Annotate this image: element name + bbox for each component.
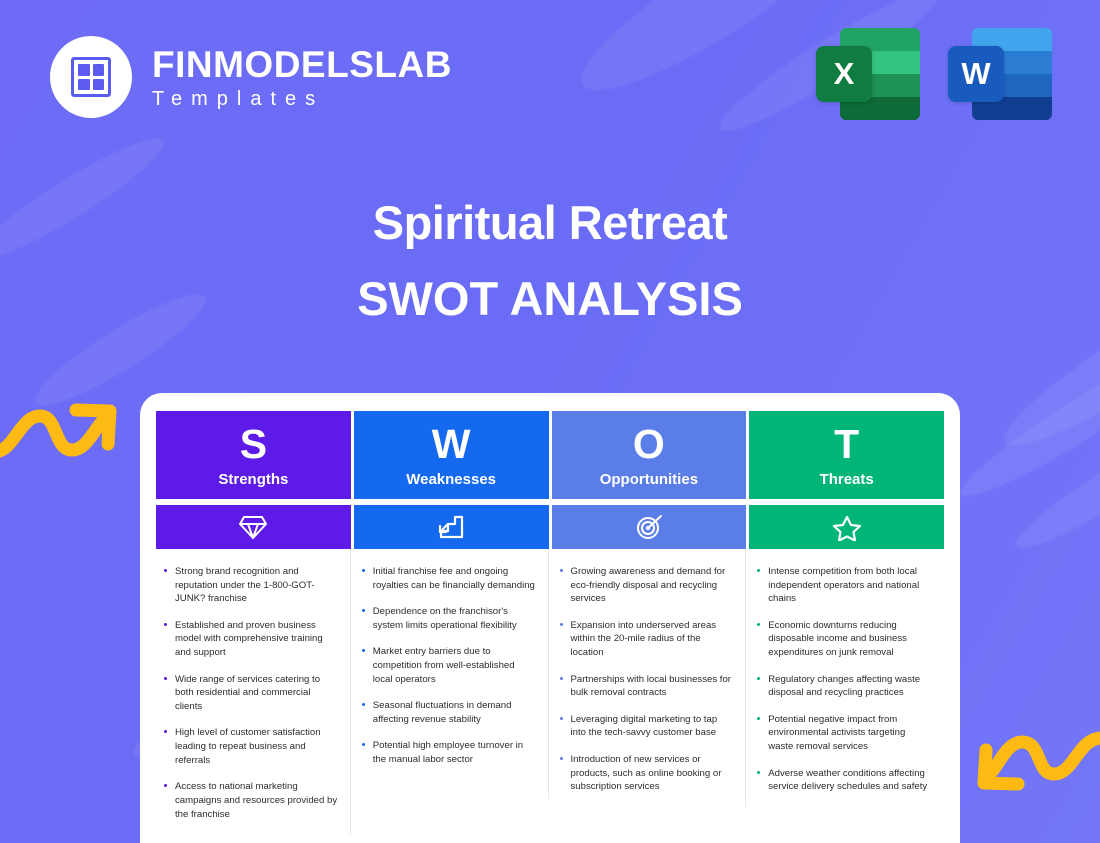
list-item: Seasonal fluctuations in demand affectin… bbox=[360, 699, 536, 726]
bullet-list: Initial franchise fee and ongoing royalt… bbox=[360, 565, 536, 767]
list-item: Growing awareness and demand for eco-fri… bbox=[558, 565, 734, 606]
column-letter: W bbox=[432, 424, 471, 465]
list-item: Introduction of new services or products… bbox=[558, 753, 734, 794]
column-body-strengths: Strong brand recognition and reputation … bbox=[156, 549, 351, 834]
list-item: High level of customer satisfaction lead… bbox=[162, 726, 338, 767]
list-item: Established and proven business model wi… bbox=[162, 619, 338, 660]
word-icon: W bbox=[948, 28, 1052, 120]
column-header-opportunities: O Opportunities bbox=[552, 411, 747, 499]
list-item: Strong brand recognition and reputation … bbox=[162, 565, 338, 606]
column-name: Strengths bbox=[218, 472, 288, 487]
diamond-icon bbox=[156, 505, 351, 549]
brand-logo: FINMODELSLAB Templates bbox=[50, 36, 452, 118]
descending-stairs-icon bbox=[354, 505, 549, 549]
column-letter: O bbox=[633, 424, 665, 465]
list-item: Intense competition from both local inde… bbox=[755, 565, 932, 606]
brand-text: FINMODELSLAB Templates bbox=[152, 46, 452, 109]
title-line-2: SWOT ANALYSIS bbox=[0, 272, 1100, 326]
column-letter: T bbox=[834, 424, 859, 465]
logo-circle bbox=[50, 36, 132, 118]
bullet-list: Strong brand recognition and reputation … bbox=[162, 565, 338, 821]
list-item: Potential high employee turnover in the … bbox=[360, 739, 536, 766]
column-body-opportunities: Growing awareness and demand for eco-fri… bbox=[552, 549, 747, 807]
column-header-strengths: S Strengths bbox=[156, 411, 351, 499]
swot-column-strengths: S Strengths Strong brand recognition and… bbox=[156, 411, 351, 834]
star-icon bbox=[749, 505, 944, 549]
list-item: Economic downturns reducing disposable i… bbox=[755, 619, 932, 660]
list-item: Potential negative impact from environme… bbox=[755, 713, 932, 754]
squiggly-arrow-up-right-icon bbox=[0, 398, 122, 473]
swot-column-threats: T Threats Intense competition from both … bbox=[749, 411, 944, 834]
page-title: Spiritual Retreat SWOT ANALYSIS bbox=[0, 196, 1100, 326]
list-item: Wide range of services catering to both … bbox=[162, 673, 338, 714]
column-letter: S bbox=[240, 424, 267, 465]
excel-tile-letter: X bbox=[816, 46, 872, 102]
title-line-1: Spiritual Retreat bbox=[0, 196, 1100, 250]
column-name: Weaknesses bbox=[406, 472, 496, 487]
squiggly-arrow-down-left-icon bbox=[966, 730, 1100, 807]
swot-column-opportunities: O Opportunities Growing awareness and de… bbox=[552, 411, 747, 834]
swot-column-weaknesses: W Weaknesses Initial franchise fee and o… bbox=[354, 411, 549, 834]
list-item: Expansion into underserved areas within … bbox=[558, 619, 734, 660]
list-item: Leveraging digital marketing to tap into… bbox=[558, 713, 734, 740]
list-item: Access to national marketing campaigns a… bbox=[162, 780, 338, 821]
list-item: Initial franchise fee and ongoing royalt… bbox=[360, 565, 536, 592]
column-body-threats: Intense competition from both local inde… bbox=[749, 549, 944, 807]
brand-name: FINMODELSLAB bbox=[152, 46, 452, 83]
target-icon bbox=[552, 505, 747, 549]
column-header-threats: T Threats bbox=[749, 411, 944, 499]
swot-table: S Strengths Strong brand recognition and… bbox=[156, 411, 944, 834]
swot-card: S Strengths Strong brand recognition and… bbox=[140, 393, 960, 843]
grid-icon bbox=[71, 57, 111, 97]
bullet-list: Intense competition from both local inde… bbox=[755, 565, 932, 794]
column-name: Threats bbox=[820, 472, 874, 487]
column-body-weaknesses: Initial franchise fee and ongoing royalt… bbox=[354, 549, 549, 799]
bullet-list: Growing awareness and demand for eco-fri… bbox=[558, 565, 734, 794]
list-item: Dependence on the franchisor's system li… bbox=[360, 605, 536, 632]
format-icons: X W bbox=[816, 28, 1052, 120]
column-header-weaknesses: W Weaknesses bbox=[354, 411, 549, 499]
list-item: Adverse weather conditions affecting ser… bbox=[755, 767, 932, 794]
excel-icon: X bbox=[816, 28, 920, 120]
list-item: Regulatory changes affecting waste dispo… bbox=[755, 673, 932, 700]
list-item: Market entry barriers due to competition… bbox=[360, 645, 536, 686]
column-name: Opportunities bbox=[600, 472, 698, 487]
list-item: Partnerships with local businesses for b… bbox=[558, 673, 734, 700]
brand-tagline: Templates bbox=[152, 89, 452, 109]
word-tile-letter: W bbox=[948, 46, 1004, 102]
